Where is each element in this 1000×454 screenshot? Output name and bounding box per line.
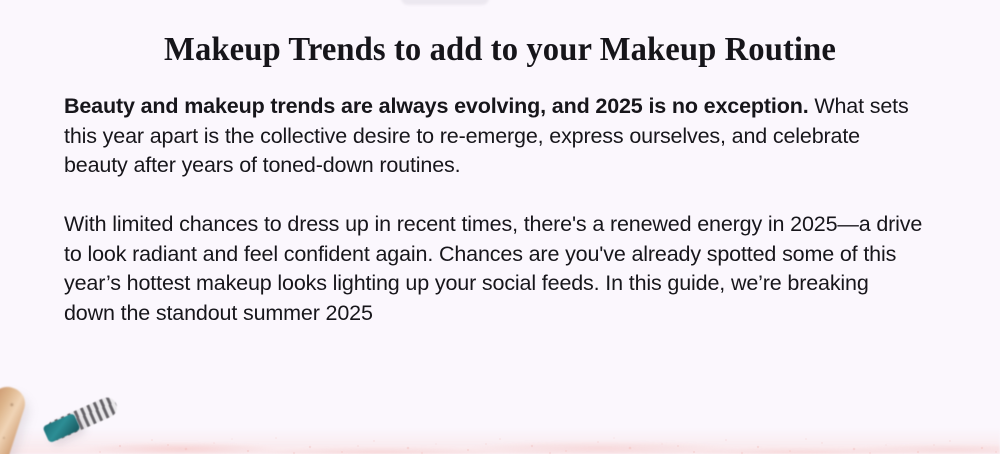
paragraph-intro-lead: Beauty and makeup trends are always evol… — [64, 94, 809, 118]
makeup-brush-tan-icon — [0, 383, 29, 454]
paragraph-body: With limited chances to dress up in rece… — [64, 210, 924, 328]
article-body: Beauty and makeup trends are always evol… — [64, 92, 924, 328]
blush-powder-texture-icon — [0, 432, 1000, 454]
blush-powder-band — [0, 428, 1000, 454]
article-content: Makeup Trends to add to your Makeup Rout… — [0, 0, 1000, 328]
page-title: Makeup Trends to add to your Makeup Rout… — [20, 0, 980, 70]
paragraph-intro: Beauty and makeup trends are always evol… — [64, 92, 924, 181]
article-page: Makeup Trends to add to your Makeup Rout… — [0, 0, 1000, 454]
paragraph-body-rest: With limited chances to dress up in rece… — [64, 212, 922, 325]
